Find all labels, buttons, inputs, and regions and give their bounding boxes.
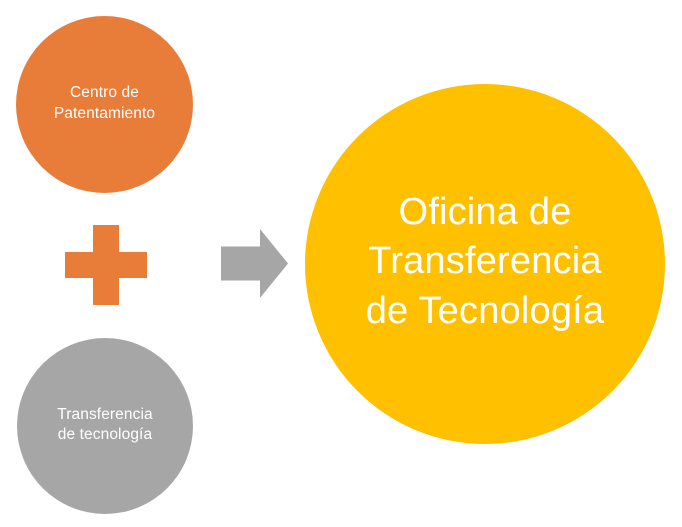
plus-vertical-bar: [93, 225, 119, 305]
node-label-oficina-de-transferencia-de-tecnologia: Oficina de Transferencia de Tecnología: [366, 188, 605, 340]
plus-operator-icon: [65, 225, 147, 305]
node-centro-de-patentamiento[interactable]: Centro de Patentamiento: [16, 16, 193, 193]
node-label-transferencia-de-tecnologia: Transferencia de tecnología: [57, 405, 153, 448]
arrow-right-icon: [221, 229, 288, 298]
arrow-right-shape: [221, 229, 288, 298]
node-label-centro-de-patentamiento: Centro de Patentamiento: [54, 83, 155, 126]
node-transferencia-de-tecnologia[interactable]: Transferencia de tecnología: [17, 338, 193, 514]
diagram-canvas: Centro de Patentamiento Transferencia de…: [0, 0, 682, 527]
node-oficina-de-transferencia-de-tecnologia[interactable]: Oficina de Transferencia de Tecnología: [305, 84, 665, 444]
